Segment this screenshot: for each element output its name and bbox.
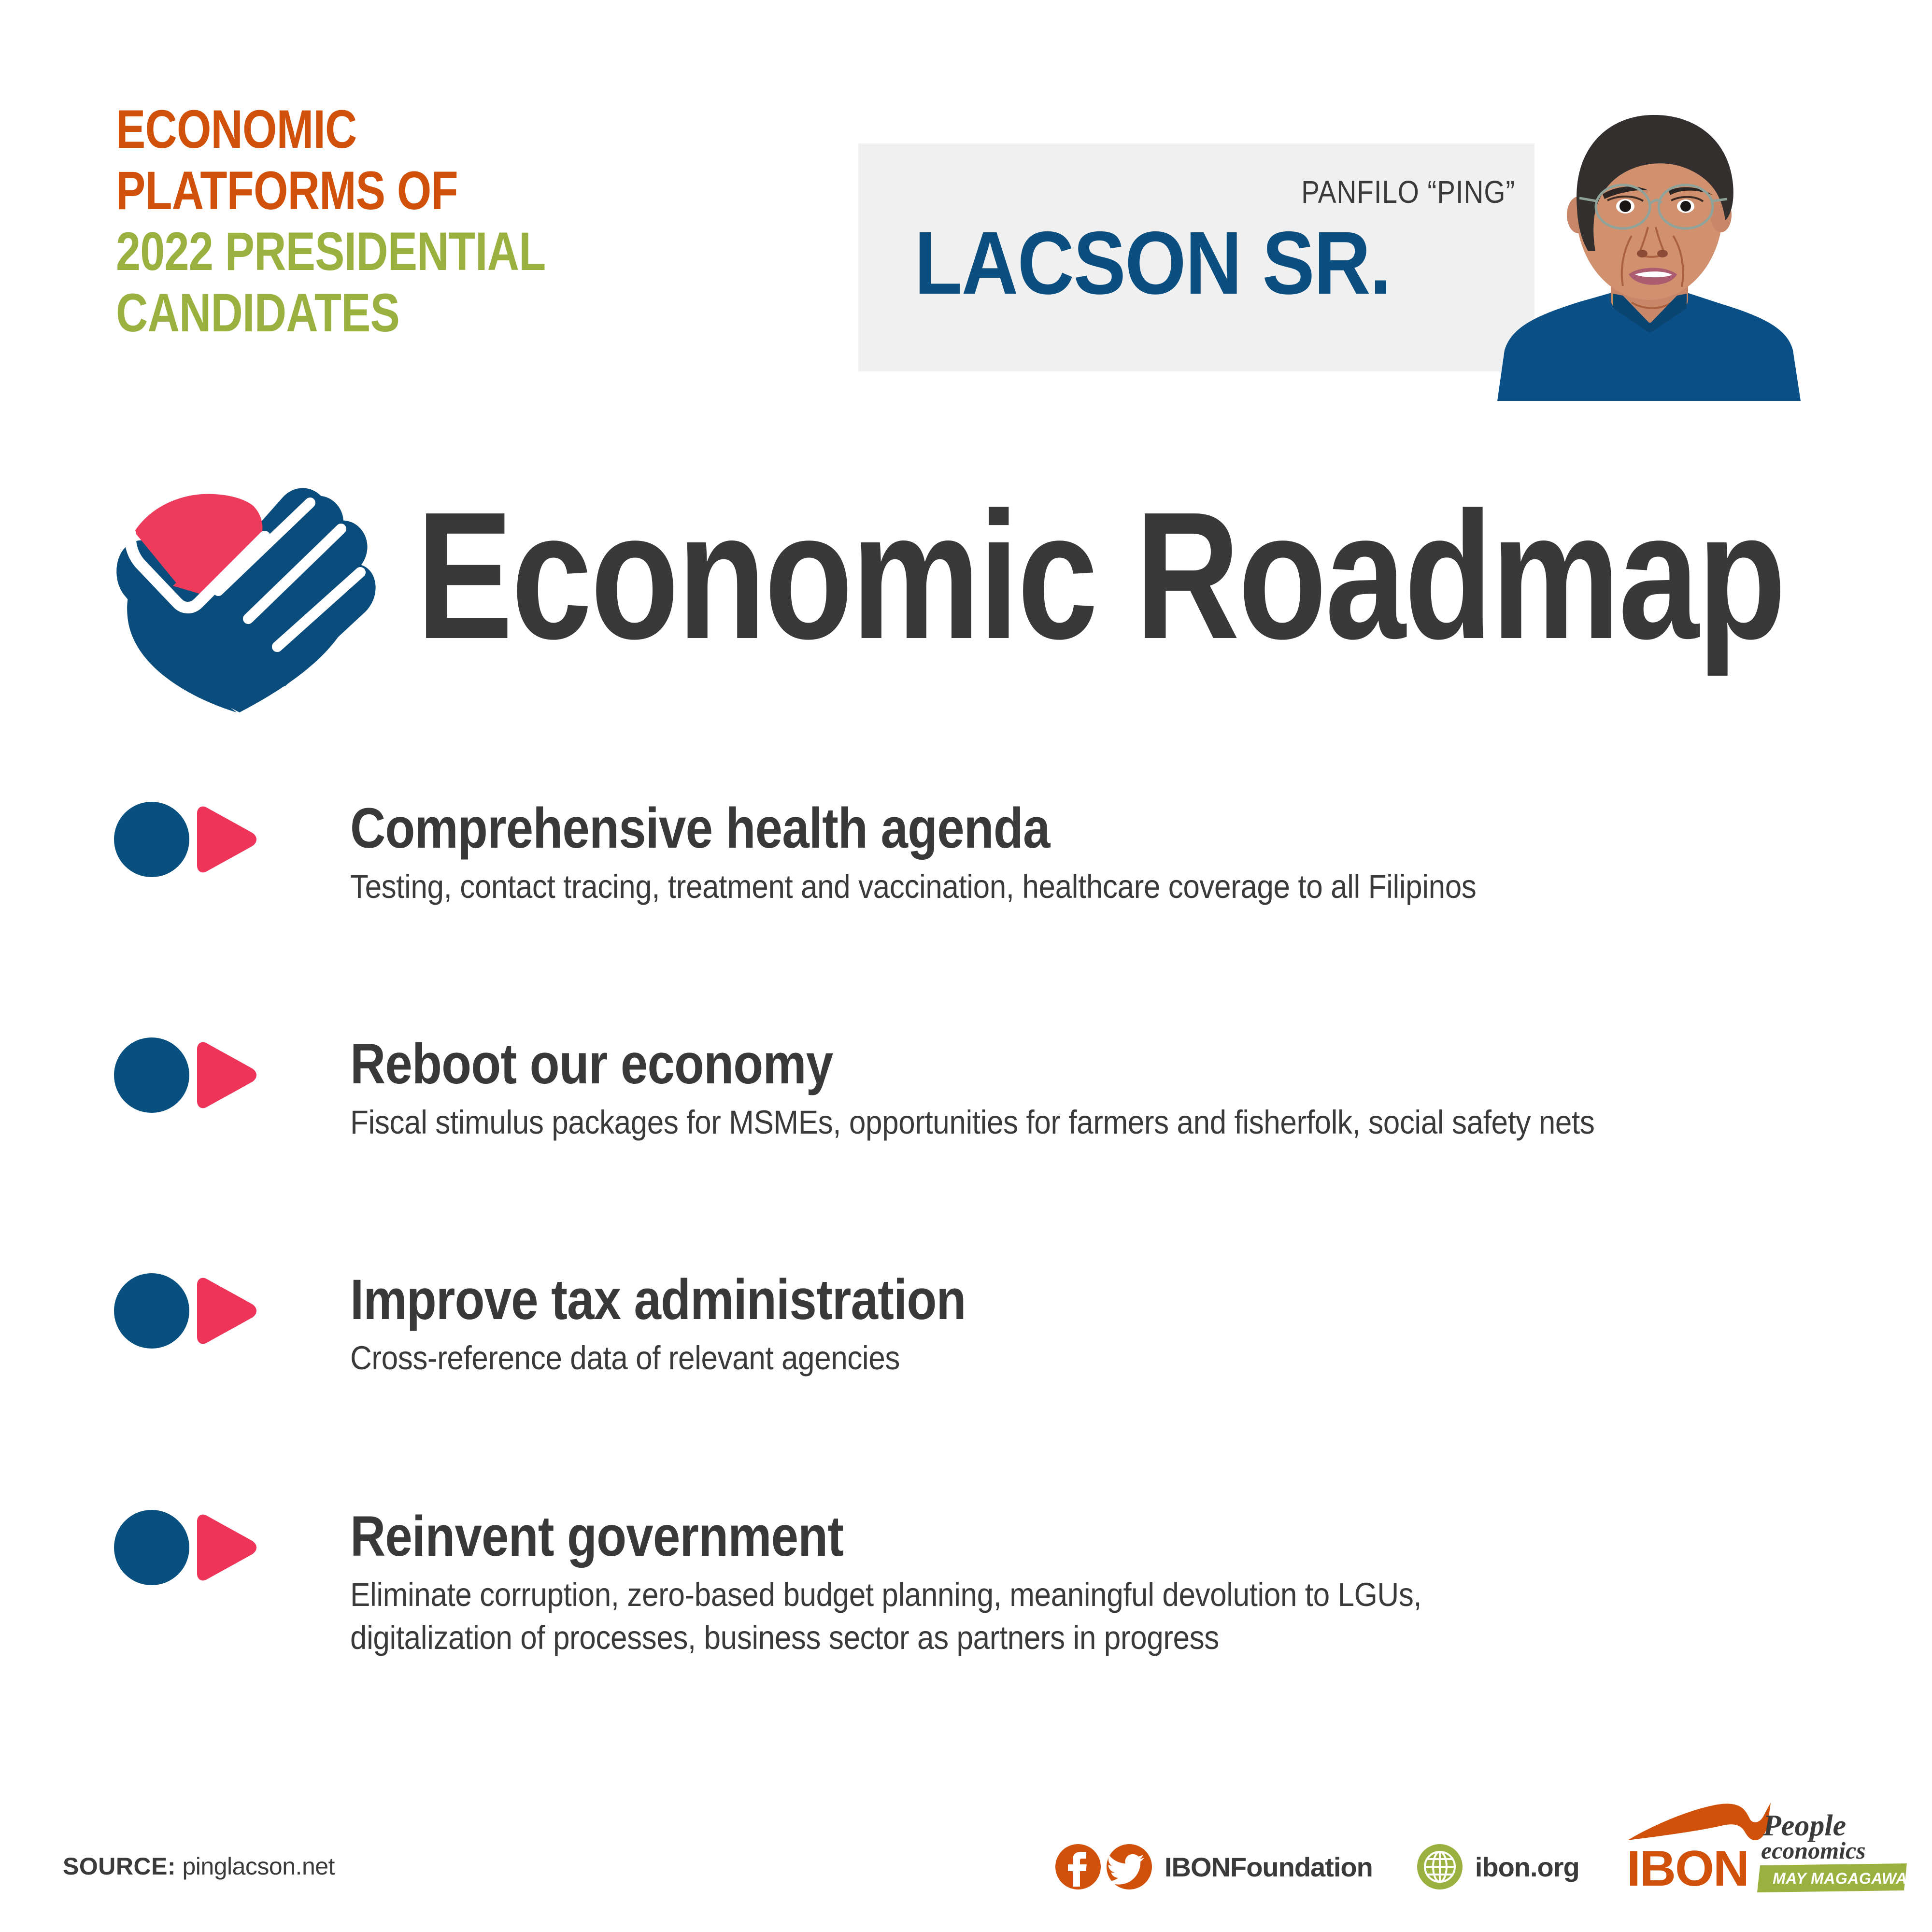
kicker-line-3: 2022 PRESIDENTIAL — [116, 221, 710, 283]
candidate-name-plate: PANFILO “PING” LACSON SR. — [858, 143, 1534, 371]
twitter-icon[interactable] — [1107, 1844, 1152, 1889]
item-title: Reboot our economy — [350, 1034, 1638, 1094]
candidate-portrait — [1478, 106, 1821, 401]
page-title: Economic Roadmap — [416, 485, 1785, 667]
kicker-line-4: CANDIDATES — [116, 283, 710, 344]
candidate-last-name: LACSON SR. — [914, 212, 1391, 314]
ibon-logo: IBON People economics MAY MAGAGAWA! — [1618, 1801, 1908, 1912]
item-description: Fiscal stimulus packages for MSMEs, oppo… — [350, 1101, 1698, 1144]
ibon-wordmark: IBON — [1627, 1841, 1748, 1897]
item-title: Improve tax administration — [350, 1269, 1638, 1330]
item-title: Comprehensive health agenda — [350, 798, 1638, 859]
facebook-icon[interactable] — [1055, 1844, 1101, 1889]
source-label: SOURCE: — [63, 1853, 176, 1880]
bullet-marker — [114, 802, 278, 879]
bullet-marker — [114, 1273, 278, 1350]
item-title: Reinvent government — [350, 1506, 1638, 1567]
kicker-line-1: ECONOMIC — [116, 99, 710, 160]
tagline-economics: economics — [1761, 1837, 1866, 1864]
bullet-marker — [114, 1510, 278, 1587]
social-footer: IBONFoundation ibon.org — [1055, 1840, 1579, 1893]
kicker-line-2: PLATFORMS OF — [116, 160, 710, 222]
bullet-marker — [114, 1037, 278, 1115]
tagline-banner: MAY MAGAGAWA! — [1773, 1870, 1908, 1887]
globe-icon[interactable] — [1417, 1844, 1463, 1889]
item-description: Eliminate corruption, zero-based budget … — [350, 1574, 1698, 1659]
item-description: Testing, contact tracing, treatment and … — [350, 866, 1698, 908]
source-value: pinglacson.net — [182, 1853, 334, 1880]
social-handle[interactable]: IBONFoundation — [1165, 1851, 1373, 1883]
website-link[interactable]: ibon.org — [1475, 1851, 1579, 1883]
source-credit: SOURCE: pinglacson.net — [63, 1852, 335, 1880]
page-kicker-title: ECONOMIC PLATFORMS OF 2022 PRESIDENTIAL … — [116, 99, 840, 343]
item-description: Cross-reference data of relevant agencie… — [350, 1337, 1698, 1379]
hand-heart-logo — [105, 476, 376, 712]
